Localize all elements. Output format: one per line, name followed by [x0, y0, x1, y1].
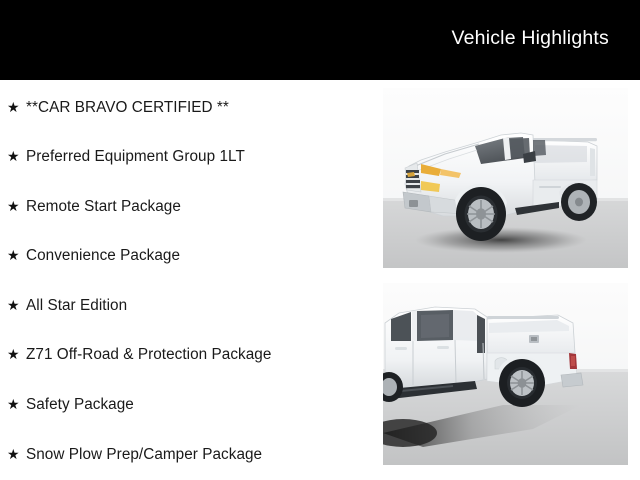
page-content: ★ **CAR BRAVO CERTIFIED ** ★ Preferred E… [0, 80, 640, 480]
highlight-label: Preferred Equipment Group 1LT [26, 147, 245, 167]
star-icon: ★ [7, 146, 26, 166]
highlight-label: Convenience Package [26, 246, 180, 266]
star-icon: ★ [7, 196, 26, 216]
list-item: ★ Snow Plow Prep/Camper Package [7, 444, 262, 464]
highlight-label: Safety Package [26, 395, 134, 415]
list-item: ★ Remote Start Package [7, 196, 181, 216]
vehicle-photo-rear-three-quarter[interactable] [383, 283, 628, 465]
list-item: ★ All Star Edition [7, 295, 127, 315]
vehicle-photo-gallery [383, 80, 640, 480]
star-icon: ★ [7, 295, 26, 315]
highlight-label: All Star Edition [26, 296, 127, 316]
highlight-label: Snow Plow Prep/Camper Package [26, 445, 262, 465]
star-icon: ★ [7, 97, 26, 117]
star-icon: ★ [7, 394, 26, 414]
star-icon: ★ [7, 344, 26, 364]
page-title: Vehicle Highlights [451, 29, 609, 51]
vehicle-highlights-list: ★ **CAR BRAVO CERTIFIED ** ★ Preferred E… [0, 80, 383, 480]
list-item: ★ Convenience Package [7, 245, 180, 265]
highlight-label: **CAR BRAVO CERTIFIED ** [26, 98, 229, 118]
star-icon: ★ [7, 245, 26, 265]
vehicle-photo-front-three-quarter[interactable] [383, 88, 628, 268]
highlight-label: Z71 Off-Road & Protection Package [26, 345, 271, 365]
list-item: ★ **CAR BRAVO CERTIFIED ** [7, 97, 229, 117]
list-item: ★ Preferred Equipment Group 1LT [7, 146, 245, 166]
page-header: Vehicle Highlights [0, 0, 640, 80]
star-icon: ★ [7, 444, 26, 464]
highlight-label: Remote Start Package [26, 197, 181, 217]
vehicle-highlights-page: Vehicle Highlights ★ **CAR BRAVO CERTIFI… [0, 0, 640, 480]
list-item: ★ Z71 Off-Road & Protection Package [7, 344, 271, 364]
list-item: ★ Safety Package [7, 394, 134, 414]
